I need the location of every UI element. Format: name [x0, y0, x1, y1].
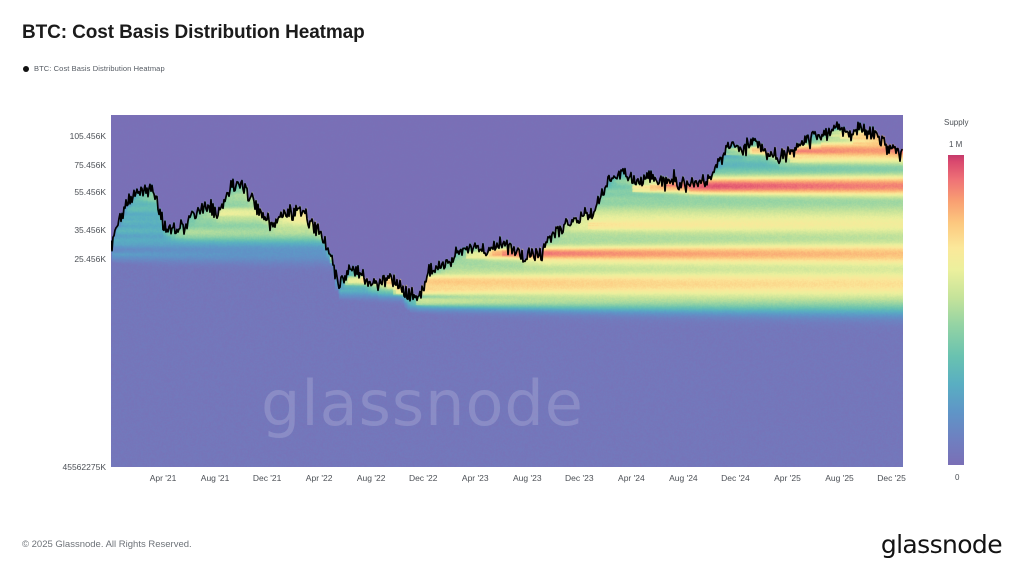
- y-axis-tick-label: 55.456K: [6, 187, 106, 197]
- x-axis-tick-label: Apr '25: [774, 473, 801, 483]
- x-axis: Apr '21Aug '21Dec '21Apr '22Aug '22Dec '…: [0, 473, 1024, 489]
- colorbar-min-label: 0: [955, 473, 959, 482]
- x-axis-tick-label: Dec '24: [721, 473, 750, 483]
- footer-copyright: © 2025 Glassnode. All Rights Reserved.: [22, 539, 192, 550]
- footer-logo: glassnode: [881, 530, 1002, 559]
- y-axis: 105.456K75.456K55.456K35.456K25.456K4556…: [2, 0, 106, 576]
- y-axis-tick-label: 75.456K: [6, 160, 106, 170]
- x-axis-tick-label: Aug '24: [669, 473, 698, 483]
- x-axis-tick-label: Aug '22: [357, 473, 386, 483]
- y-axis-tick-label: 45562275K: [6, 462, 106, 472]
- x-axis-tick-label: Apr '24: [618, 473, 645, 483]
- x-axis-tick-label: Apr '23: [462, 473, 489, 483]
- x-axis-tick-label: Dec '21: [253, 473, 282, 483]
- colorbar-title: Supply: [944, 118, 968, 127]
- x-axis-tick-label: Aug '21: [201, 473, 230, 483]
- y-axis-tick-label: 25.456K: [6, 254, 106, 264]
- x-axis-tick-label: Dec '23: [565, 473, 594, 483]
- price-line-series: [111, 115, 903, 467]
- x-axis-tick-label: Dec '22: [409, 473, 438, 483]
- colorbar-legend[interactable]: Supply 1 M 0: [930, 115, 1024, 495]
- y-axis-tick-label: 35.456K: [6, 225, 106, 235]
- x-axis-tick-label: Aug '23: [513, 473, 542, 483]
- x-axis-tick-label: Aug '25: [825, 473, 854, 483]
- colorbar-max-label: 1 M: [949, 140, 962, 149]
- chart-page: BTC: Cost Basis Distribution Heatmap BTC…: [0, 0, 1024, 576]
- heatmap-plot-area[interactable]: glassnode: [111, 115, 903, 467]
- x-axis-tick-label: Apr '22: [306, 473, 333, 483]
- y-axis-tick-label: 105.456K: [6, 131, 106, 141]
- colorbar-gradient: [948, 155, 964, 465]
- x-axis-tick-label: Dec '25: [877, 473, 906, 483]
- x-axis-tick-label: Apr '21: [150, 473, 177, 483]
